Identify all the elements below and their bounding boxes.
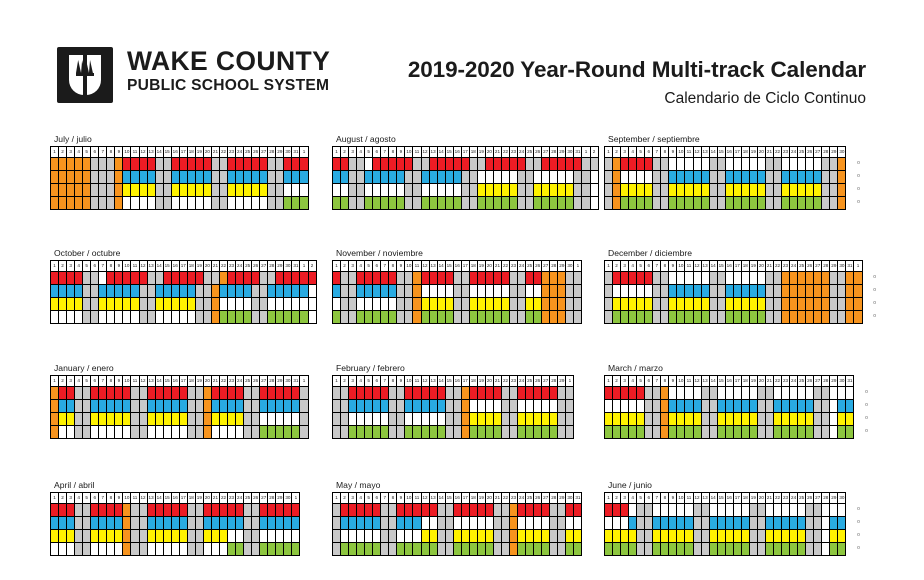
day-cell[interactable] — [766, 272, 774, 285]
day-cell[interactable] — [236, 311, 244, 324]
day-cell[interactable] — [91, 197, 99, 210]
day-cell[interactable] — [405, 387, 413, 400]
day-cell[interactable] — [694, 543, 702, 556]
day-cell[interactable] — [123, 504, 131, 517]
day-cell[interactable] — [389, 426, 397, 439]
day-cell[interactable] — [830, 158, 838, 171]
day-cell[interactable] — [220, 517, 228, 530]
day-cell[interactable] — [462, 298, 470, 311]
day-cell[interactable] — [838, 504, 846, 517]
day-cell[interactable] — [661, 426, 669, 439]
day-cell[interactable] — [446, 543, 454, 556]
day-cell[interactable] — [389, 171, 397, 184]
day-cell[interactable] — [357, 400, 365, 413]
day-cell[interactable] — [333, 543, 341, 556]
day-cell[interactable] — [830, 387, 838, 400]
day-cell[interactable] — [397, 197, 405, 210]
day-cell[interactable] — [685, 285, 693, 298]
day-cell[interactable] — [67, 184, 75, 197]
day-cell[interactable] — [236, 400, 244, 413]
day-cell[interactable] — [526, 272, 534, 285]
day-cell[interactable] — [91, 504, 99, 517]
day-cell[interactable] — [685, 517, 693, 530]
day-cell[interactable] — [710, 413, 718, 426]
day-cell[interactable] — [750, 530, 758, 543]
day-cell[interactable] — [637, 413, 645, 426]
day-cell[interactable] — [268, 413, 276, 426]
day-cell[interactable] — [172, 530, 180, 543]
day-cell[interactable] — [470, 504, 478, 517]
day-cell[interactable] — [123, 197, 131, 210]
day-cell[interactable] — [156, 504, 164, 517]
day-cell[interactable] — [252, 184, 260, 197]
day-cell[interactable] — [702, 504, 710, 517]
day-cell[interactable] — [123, 285, 131, 298]
day-cell[interactable] — [91, 400, 99, 413]
day-cell[interactable] — [405, 400, 413, 413]
day-cell[interactable] — [462, 272, 470, 285]
day-cell[interactable] — [629, 400, 637, 413]
day-cell[interactable] — [300, 426, 308, 439]
day-cell[interactable] — [99, 184, 107, 197]
day-cell[interactable] — [629, 272, 637, 285]
day-cell[interactable] — [115, 184, 123, 197]
day-cell[interactable] — [300, 298, 308, 311]
day-cell[interactable] — [373, 197, 381, 210]
day-cell[interactable] — [300, 197, 308, 210]
day-cell[interactable] — [188, 413, 196, 426]
day-cell[interactable] — [669, 311, 677, 324]
day-cell[interactable] — [204, 504, 212, 517]
day-cell[interactable] — [438, 272, 446, 285]
day-cell[interactable] — [365, 400, 373, 413]
day-cell[interactable] — [268, 285, 276, 298]
day-cell[interactable] — [357, 184, 365, 197]
day-cell[interactable] — [645, 543, 653, 556]
day-cell[interactable] — [758, 158, 766, 171]
day-cell[interactable] — [357, 413, 365, 426]
day-cell[interactable] — [59, 426, 67, 439]
day-cell[interactable] — [742, 543, 750, 556]
day-cell[interactable] — [91, 543, 99, 556]
day-cell[interactable] — [107, 413, 115, 426]
day-cell[interactable] — [115, 311, 123, 324]
day-cell[interactable] — [284, 413, 292, 426]
day-cell[interactable] — [790, 387, 798, 400]
day-cell[interactable] — [83, 413, 91, 426]
day-cell[interactable] — [566, 504, 574, 517]
day-cell[interactable] — [212, 530, 220, 543]
day-cell[interactable] — [798, 197, 806, 210]
day-cell[interactable] — [478, 517, 486, 530]
day-cell[interactable] — [702, 543, 710, 556]
day-cell[interactable] — [822, 504, 830, 517]
day-cell[interactable] — [502, 311, 510, 324]
day-cell[interactable] — [180, 184, 188, 197]
day-cell[interactable] — [653, 517, 661, 530]
day-cell[interactable] — [373, 184, 381, 197]
day-cell[interactable] — [758, 285, 766, 298]
day-cell[interactable] — [542, 543, 550, 556]
day-cell[interactable] — [454, 400, 462, 413]
day-cell[interactable] — [397, 530, 405, 543]
day-cell[interactable] — [742, 298, 750, 311]
day-cell[interactable] — [244, 197, 252, 210]
day-cell[interactable] — [502, 543, 510, 556]
day-cell[interactable] — [550, 184, 558, 197]
day-cell[interactable] — [446, 426, 454, 439]
day-cell[interactable] — [413, 158, 421, 171]
day-cell[interactable] — [148, 171, 156, 184]
day-cell[interactable] — [502, 272, 510, 285]
day-cell[interactable] — [558, 285, 566, 298]
day-cell[interactable] — [534, 184, 542, 197]
day-cell[interactable] — [742, 272, 750, 285]
day-cell[interactable] — [196, 197, 204, 210]
day-cell[interactable] — [702, 413, 710, 426]
day-cell[interactable] — [605, 543, 613, 556]
day-cell[interactable] — [629, 413, 637, 426]
day-cell[interactable] — [710, 504, 718, 517]
day-cell[interactable] — [582, 158, 590, 171]
day-cell[interactable] — [349, 426, 357, 439]
day-cell[interactable] — [526, 285, 534, 298]
day-cell[interactable] — [542, 413, 550, 426]
day-cell[interactable] — [156, 272, 164, 285]
day-cell[interactable] — [718, 517, 726, 530]
day-cell[interactable] — [454, 504, 462, 517]
day-cell[interactable] — [766, 298, 774, 311]
day-cell[interactable] — [236, 426, 244, 439]
day-cell[interactable] — [99, 272, 107, 285]
day-cell[interactable] — [59, 413, 67, 426]
day-cell[interactable] — [702, 517, 710, 530]
day-cell[interactable] — [726, 543, 734, 556]
day-cell[interactable] — [774, 504, 782, 517]
day-cell[interactable] — [591, 171, 599, 184]
day-cell[interactable] — [766, 387, 774, 400]
day-cell[interactable] — [702, 272, 710, 285]
day-cell[interactable] — [115, 400, 123, 413]
day-cell[interactable] — [718, 197, 726, 210]
day-cell[interactable] — [204, 285, 212, 298]
day-cell[interactable] — [341, 197, 349, 210]
day-cell[interactable] — [534, 543, 542, 556]
day-cell[interactable] — [470, 400, 478, 413]
day-cell[interactable] — [798, 413, 806, 426]
day-cell[interactable] — [83, 285, 91, 298]
day-cell[interactable] — [123, 311, 131, 324]
day-cell[interactable] — [381, 543, 389, 556]
day-cell[interactable] — [661, 413, 669, 426]
day-cell[interactable] — [710, 158, 718, 171]
day-cell[interactable] — [637, 272, 645, 285]
day-cell[interactable] — [131, 197, 139, 210]
day-cell[interactable] — [518, 311, 526, 324]
day-cell[interactable] — [806, 426, 814, 439]
day-cell[interactable] — [373, 298, 381, 311]
day-cell[interactable] — [107, 530, 115, 543]
day-cell[interactable] — [140, 504, 148, 517]
day-cell[interactable] — [357, 504, 365, 517]
day-cell[interactable] — [381, 504, 389, 517]
day-cell[interactable] — [284, 400, 292, 413]
day-cell[interactable] — [734, 413, 742, 426]
day-cell[interactable] — [446, 400, 454, 413]
day-cell[interactable] — [244, 413, 252, 426]
day-cell[interactable] — [156, 543, 164, 556]
day-cell[interactable] — [446, 184, 454, 197]
day-cell[interactable] — [333, 413, 341, 426]
day-cell[interactable] — [430, 184, 438, 197]
day-cell[interactable] — [349, 184, 357, 197]
day-cell[interactable] — [268, 400, 276, 413]
day-cell[interactable] — [790, 311, 798, 324]
day-cell[interactable] — [99, 298, 107, 311]
day-cell[interactable] — [140, 272, 148, 285]
day-cell[interactable] — [164, 285, 172, 298]
day-cell[interactable] — [645, 298, 653, 311]
day-cell[interactable] — [782, 517, 790, 530]
day-cell[interactable] — [220, 426, 228, 439]
day-cell[interactable] — [284, 543, 292, 556]
day-cell[interactable] — [726, 184, 734, 197]
day-cell[interactable] — [349, 543, 357, 556]
day-cell[interactable] — [814, 298, 822, 311]
day-cell[interactable] — [838, 413, 846, 426]
day-cell[interactable] — [422, 543, 430, 556]
day-cell[interactable] — [389, 517, 397, 530]
day-cell[interactable] — [397, 298, 405, 311]
day-cell[interactable] — [677, 426, 685, 439]
day-cell[interactable] — [750, 400, 758, 413]
day-cell[interactable] — [558, 272, 566, 285]
day-cell[interactable] — [107, 504, 115, 517]
day-cell[interactable] — [774, 285, 782, 298]
day-cell[interactable] — [75, 387, 83, 400]
day-cell[interactable] — [726, 413, 734, 426]
day-cell[interactable] — [292, 272, 300, 285]
day-cell[interactable] — [430, 311, 438, 324]
day-cell[interactable] — [653, 426, 661, 439]
day-cell[interactable] — [333, 426, 341, 439]
day-cell[interactable] — [107, 517, 115, 530]
day-cell[interactable] — [123, 543, 131, 556]
day-cell[interactable] — [677, 158, 685, 171]
day-cell[interactable] — [494, 272, 502, 285]
day-cell[interactable] — [814, 272, 822, 285]
day-cell[interactable] — [381, 400, 389, 413]
day-cell[interactable] — [782, 158, 790, 171]
day-cell[interactable] — [822, 197, 830, 210]
day-cell[interactable] — [798, 530, 806, 543]
day-cell[interactable] — [782, 504, 790, 517]
day-cell[interactable] — [204, 530, 212, 543]
day-cell[interactable] — [67, 426, 75, 439]
day-cell[interactable] — [637, 298, 645, 311]
day-cell[interactable] — [790, 272, 798, 285]
day-cell[interactable] — [653, 504, 661, 517]
day-cell[interactable] — [446, 530, 454, 543]
day-cell[interactable] — [405, 504, 413, 517]
day-cell[interactable] — [196, 387, 204, 400]
day-cell[interactable] — [661, 197, 669, 210]
day-cell[interactable] — [75, 197, 83, 210]
day-cell[interactable] — [276, 311, 284, 324]
day-cell[interactable] — [236, 184, 244, 197]
day-cell[interactable] — [140, 530, 148, 543]
day-cell[interactable] — [75, 184, 83, 197]
day-cell[interactable] — [534, 413, 542, 426]
day-cell[interactable] — [742, 285, 750, 298]
day-cell[interactable] — [341, 426, 349, 439]
day-cell[interactable] — [413, 517, 421, 530]
day-cell[interactable] — [115, 504, 123, 517]
day-cell[interactable] — [446, 197, 454, 210]
day-cell[interactable] — [228, 272, 236, 285]
day-cell[interactable] — [613, 285, 621, 298]
day-cell[interactable] — [478, 171, 486, 184]
day-cell[interactable] — [196, 285, 204, 298]
day-cell[interactable] — [798, 517, 806, 530]
day-cell[interactable] — [236, 298, 244, 311]
day-cell[interactable] — [59, 400, 67, 413]
day-cell[interactable] — [534, 517, 542, 530]
day-cell[interactable] — [172, 184, 180, 197]
day-cell[interactable] — [550, 298, 558, 311]
day-cell[interactable] — [542, 197, 550, 210]
day-cell[interactable] — [661, 387, 669, 400]
day-cell[interactable] — [228, 530, 236, 543]
day-cell[interactable] — [430, 426, 438, 439]
day-cell[interactable] — [204, 387, 212, 400]
day-cell[interactable] — [220, 171, 228, 184]
day-cell[interactable] — [381, 517, 389, 530]
day-cell[interactable] — [782, 530, 790, 543]
day-cell[interactable] — [244, 158, 252, 171]
day-cell[interactable] — [244, 272, 252, 285]
day-cell[interactable] — [653, 285, 661, 298]
day-cell[interactable] — [694, 530, 702, 543]
day-cell[interactable] — [774, 400, 782, 413]
day-cell[interactable] — [790, 158, 798, 171]
day-cell[interactable] — [430, 504, 438, 517]
day-cell[interactable] — [494, 530, 502, 543]
day-cell[interactable] — [244, 543, 252, 556]
day-cell[interactable] — [766, 197, 774, 210]
day-cell[interactable] — [381, 387, 389, 400]
day-cell[interactable] — [814, 311, 822, 324]
day-cell[interactable] — [518, 530, 526, 543]
day-cell[interactable] — [661, 158, 669, 171]
day-cell[interactable] — [156, 311, 164, 324]
day-cell[interactable] — [252, 311, 260, 324]
day-cell[interactable] — [123, 530, 131, 543]
day-cell[interactable] — [381, 311, 389, 324]
day-cell[interactable] — [244, 426, 252, 439]
day-cell[interactable] — [164, 311, 172, 324]
day-cell[interactable] — [236, 272, 244, 285]
day-cell[interactable] — [502, 171, 510, 184]
day-cell[interactable] — [252, 158, 260, 171]
day-cell[interactable] — [486, 413, 494, 426]
day-cell[interactable] — [438, 197, 446, 210]
day-cell[interactable] — [83, 400, 91, 413]
day-cell[interactable] — [188, 543, 196, 556]
day-cell[interactable] — [766, 184, 774, 197]
day-cell[interactable] — [438, 504, 446, 517]
day-cell[interactable] — [381, 530, 389, 543]
day-cell[interactable] — [341, 311, 349, 324]
day-cell[interactable] — [790, 184, 798, 197]
day-cell[interactable] — [91, 517, 99, 530]
day-cell[interactable] — [365, 184, 373, 197]
day-cell[interactable] — [381, 285, 389, 298]
day-cell[interactable] — [710, 426, 718, 439]
day-cell[interactable] — [397, 517, 405, 530]
day-cell[interactable] — [300, 311, 308, 324]
day-cell[interactable] — [742, 158, 750, 171]
day-cell[interactable] — [605, 184, 613, 197]
day-cell[interactable] — [164, 400, 172, 413]
day-cell[interactable] — [726, 530, 734, 543]
day-cell[interactable] — [694, 504, 702, 517]
day-cell[interactable] — [123, 413, 131, 426]
day-cell[interactable] — [422, 504, 430, 517]
day-cell[interactable] — [734, 311, 742, 324]
day-cell[interactable] — [574, 504, 582, 517]
day-cell[interactable] — [629, 184, 637, 197]
day-cell[interactable] — [446, 285, 454, 298]
day-cell[interactable] — [629, 298, 637, 311]
day-cell[interactable] — [446, 298, 454, 311]
day-cell[interactable] — [357, 426, 365, 439]
day-cell[interactable] — [550, 387, 558, 400]
day-cell[interactable] — [300, 184, 308, 197]
day-cell[interactable] — [405, 171, 413, 184]
day-cell[interactable] — [212, 272, 220, 285]
day-cell[interactable] — [470, 285, 478, 298]
day-cell[interactable] — [99, 285, 107, 298]
day-cell[interactable] — [702, 530, 710, 543]
day-cell[interactable] — [685, 171, 693, 184]
day-cell[interactable] — [822, 158, 830, 171]
day-cell[interactable] — [397, 311, 405, 324]
day-cell[interactable] — [542, 387, 550, 400]
day-cell[interactable] — [341, 530, 349, 543]
day-cell[interactable] — [470, 517, 478, 530]
day-cell[interactable] — [478, 272, 486, 285]
day-cell[interactable] — [830, 426, 838, 439]
day-cell[interactable] — [446, 272, 454, 285]
day-cell[interactable] — [430, 197, 438, 210]
day-cell[interactable] — [438, 543, 446, 556]
day-cell[interactable] — [349, 285, 357, 298]
day-cell[interactable] — [349, 400, 357, 413]
day-cell[interactable] — [710, 298, 718, 311]
day-cell[interactable] — [196, 171, 204, 184]
day-cell[interactable] — [830, 400, 838, 413]
day-cell[interactable] — [83, 171, 91, 184]
day-cell[interactable] — [814, 504, 822, 517]
day-cell[interactable] — [661, 184, 669, 197]
day-cell[interactable] — [228, 504, 236, 517]
day-cell[interactable] — [276, 543, 284, 556]
day-cell[interactable] — [838, 400, 846, 413]
day-cell[interactable] — [341, 272, 349, 285]
day-cell[interactable] — [333, 171, 341, 184]
day-cell[interactable] — [790, 400, 798, 413]
